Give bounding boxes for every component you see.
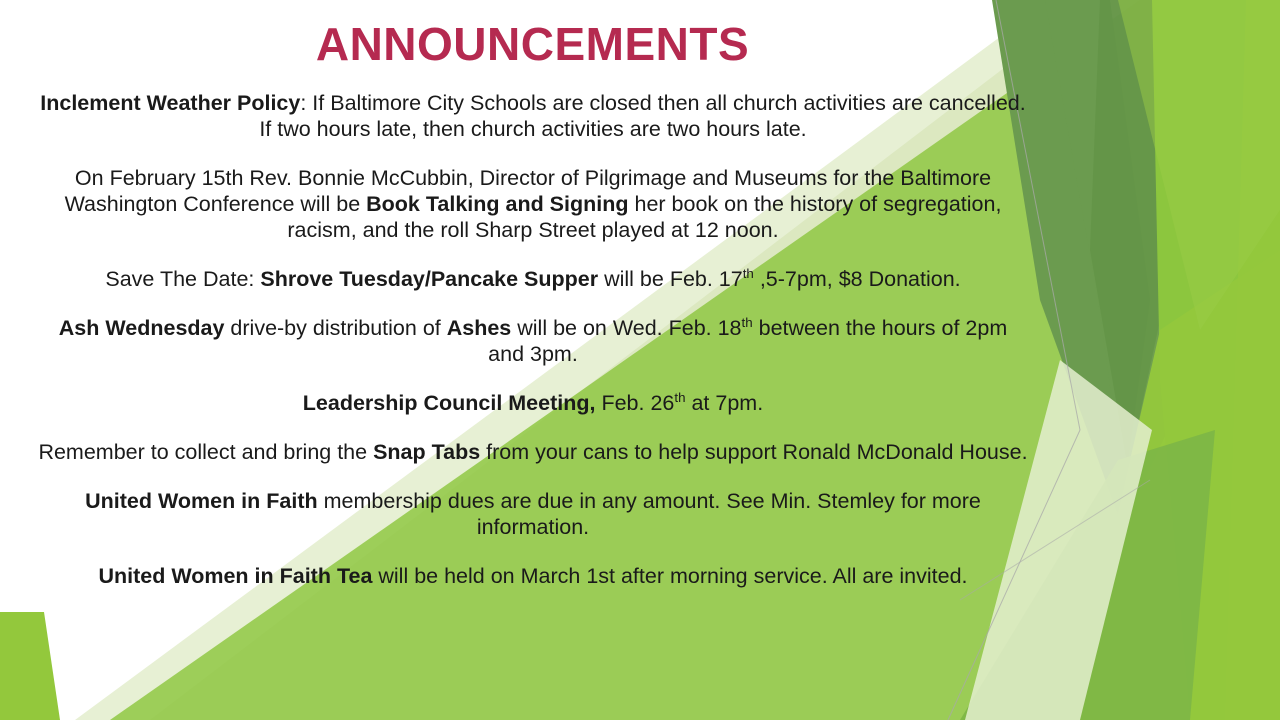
body-text: Remember to collect and bring the	[38, 440, 373, 464]
emphasis-text: Ash Wednesday	[59, 316, 225, 340]
emphasis-text: United Women in Faith Tea	[98, 564, 372, 588]
announcement-snap-tabs: Remember to collect and bring the Snap T…	[38, 439, 1028, 465]
body-text: will be Feb. 17	[598, 267, 743, 291]
announcement-united-women-in-faith-tea: United Women in Faith Tea will be held o…	[38, 563, 1028, 589]
announcement-ash-wednesday: Ash Wednesday drive-by distribution of A…	[38, 315, 1028, 367]
body-text: Feb. 26	[595, 391, 674, 415]
slide-content: ANNOUNCEMENTS Inclement Weather Policy: …	[0, 0, 1065, 720]
announcement-leadership-council-meeting: Leadership Council Meeting, Feb. 26th at…	[38, 390, 1028, 416]
body-text: will be on Wed. Feb. 18	[511, 316, 741, 340]
announcement-united-women-in-faith-dues: United Women in Faith membership dues ar…	[38, 488, 1028, 540]
body-text: membership dues are due in any amount. S…	[318, 489, 981, 539]
facet-lime-lower-right	[1070, 250, 1280, 720]
emphasis-text: Shrove Tuesday/Pancake Supper	[260, 267, 598, 291]
body-text: : If Baltimore City Schools are closed t…	[259, 91, 1025, 141]
ordinal-suffix: th	[742, 315, 753, 330]
announcement-inclement-weather-policy: Inclement Weather Policy: If Baltimore C…	[38, 90, 1028, 142]
facet-olive-overlap	[1090, 0, 1175, 470]
announcements-list: Inclement Weather Policy: If Baltimore C…	[38, 90, 1028, 589]
body-text: from your cans to help support Ronald Mc…	[480, 440, 1027, 464]
emphasis-text: Ashes	[447, 316, 512, 340]
announcements-slide: ANNOUNCEMENTS Inclement Weather Policy: …	[0, 0, 1280, 720]
announcement-book-talking-and-signing: On February 15th Rev. Bonnie McCubbin, D…	[38, 165, 1028, 243]
emphasis-text: Leadership Council Meeting,	[303, 391, 596, 415]
emphasis-text: Snap Tabs	[373, 440, 480, 464]
body-text: Save The Date:	[105, 267, 260, 291]
emphasis-text: Inclement Weather Policy	[40, 91, 300, 115]
ordinal-suffix: th	[743, 266, 754, 281]
facet-light-veil-top	[1118, 0, 1280, 330]
body-text: at 7pm.	[686, 391, 764, 415]
body-text: will be held on March 1st after morning …	[372, 564, 967, 588]
ordinal-suffix: th	[674, 390, 685, 405]
body-text: ,5-7pm, $8 Donation.	[754, 267, 961, 291]
facet-olive-column	[1045, 0, 1215, 515]
emphasis-text: United Women in Faith	[85, 489, 318, 513]
announcement-shrove-tuesday-pancake-supper: Save The Date: Shrove Tuesday/Pancake Su…	[38, 266, 1028, 292]
facet-lime-right-column	[1152, 0, 1280, 720]
facet-lime-far-right	[1225, 0, 1280, 720]
page-title: ANNOUNCEMENTS	[0, 20, 1065, 68]
emphasis-text: Book Talking and Signing	[366, 192, 628, 216]
body-text: drive-by distribution of	[224, 316, 446, 340]
